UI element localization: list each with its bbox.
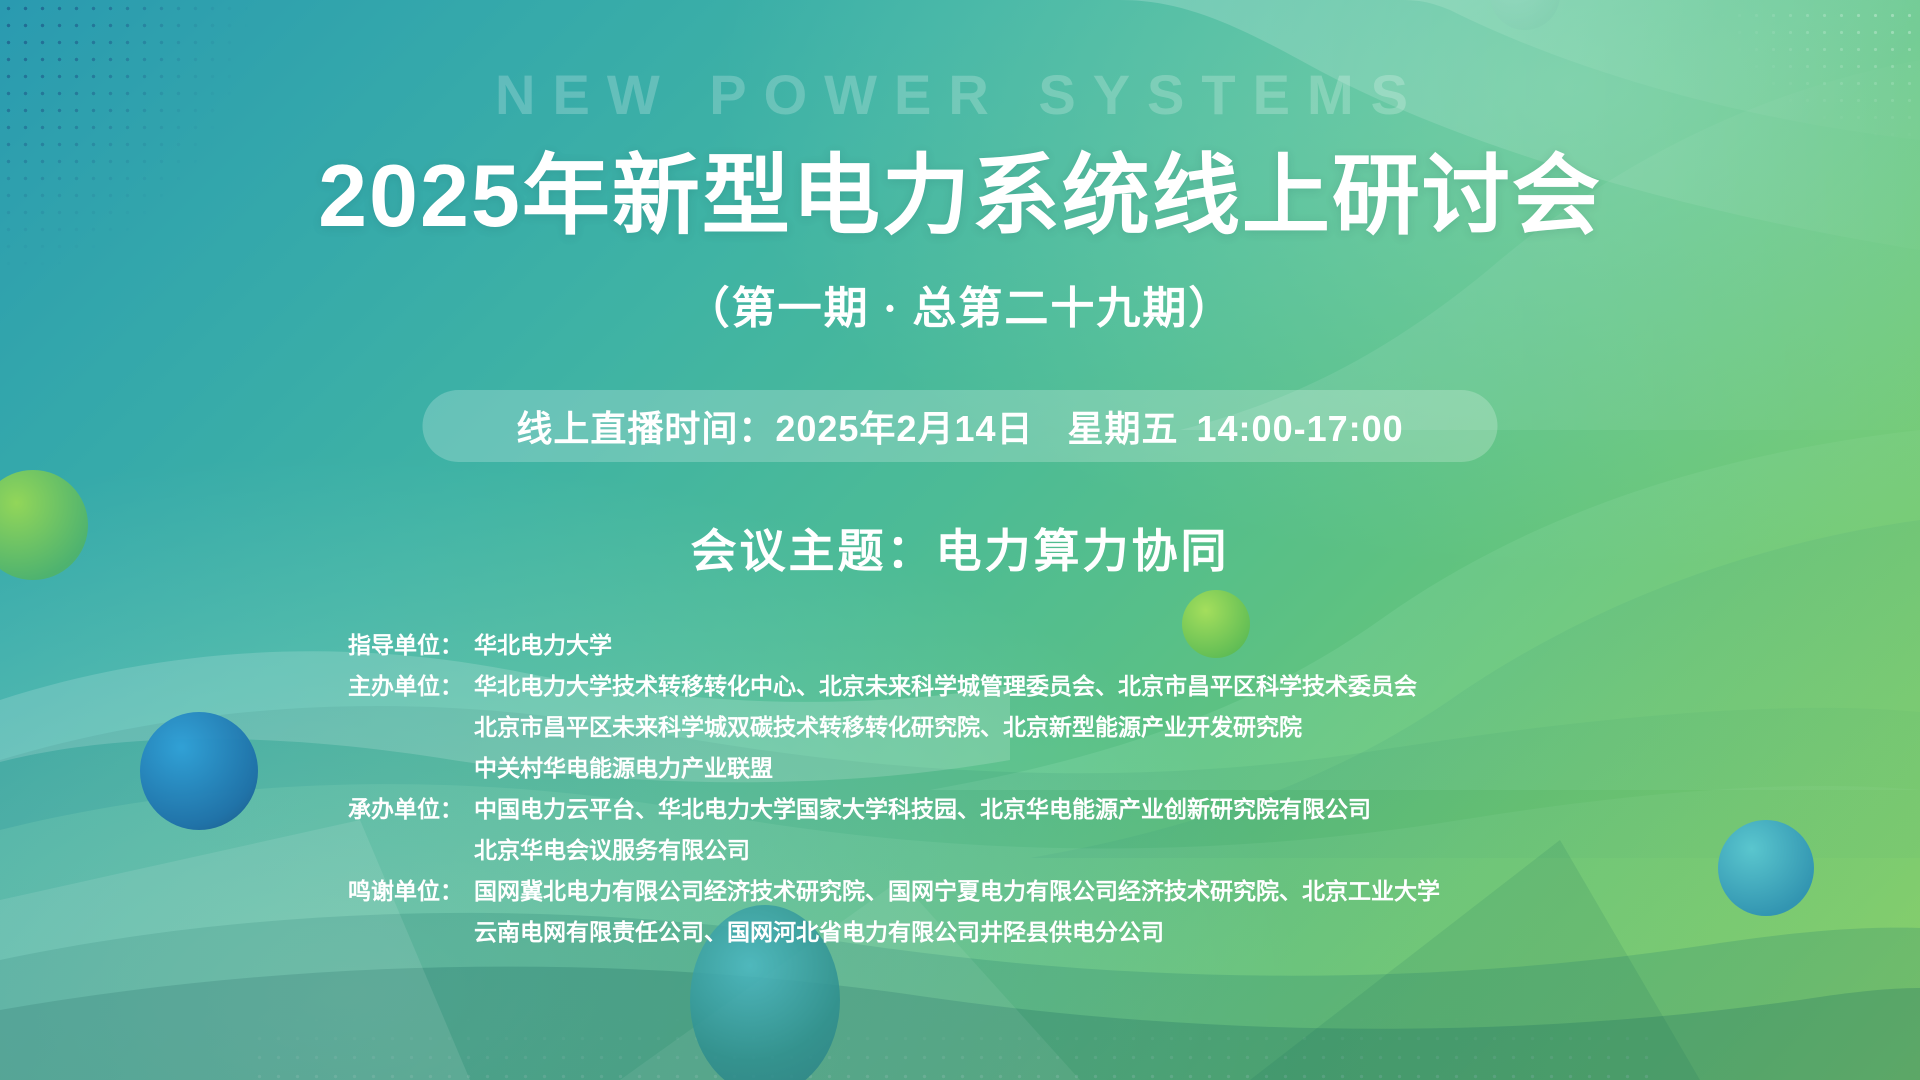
organizer-label: 主办单位： [348, 666, 474, 707]
live-time-range: 14:00-17:00 [1197, 408, 1404, 449]
organizer-row: 指导单位：华北电力大学 [348, 625, 1440, 666]
live-time-banner: 线上直播时间：2025年2月14日星期五14:00-17:00 [423, 390, 1498, 462]
organizer-value: 中关村华电能源电力产业联盟 [474, 755, 773, 781]
page-title: 2025年新型电力系统线上研讨会 [0, 125, 1920, 252]
subtitle-episode: （第一期 · 总第二十九期） [0, 272, 1920, 336]
organizer-value: 国网冀北电力有限公司经济技术研究院、国网宁夏电力有限公司经济技术研究院、北京工业… [474, 878, 1440, 904]
organizer-label: 承办单位： [348, 789, 474, 830]
meeting-theme: 会议主题：电力算力协同 [0, 515, 1920, 581]
organizer-value: 北京华电会议服务有限公司 [474, 837, 750, 863]
organizer-row-continuation: 北京市昌平区未来科学城双碳技术转移转化研究院、北京新型能源产业开发研究院 [348, 707, 1440, 748]
organizer-value: 华北电力大学技术转移转化中心、北京未来科学城管理委员会、北京市昌平区科学技术委员… [474, 673, 1417, 699]
live-time-weekday: 星期五 [1068, 408, 1179, 449]
organizer-label: 鸣谢单位： [348, 871, 474, 912]
live-time-date: 2025年2月14日 [775, 408, 1033, 449]
organizer-row: 鸣谢单位：国网冀北电力有限公司经济技术研究院、国网宁夏电力有限公司经济技术研究院… [348, 871, 1440, 912]
organizer-row: 承办单位：中国电力云平台、华北电力大学国家大学科技园、北京华电能源产业创新研究院… [348, 789, 1440, 830]
poster-canvas: NEW POWER SYSTEMS 2025年新型电力系统线上研讨会 （第一期 … [0, 0, 1920, 1080]
organizer-value: 北京市昌平区未来科学城双碳技术转移转化研究院、北京新型能源产业开发研究院 [474, 714, 1302, 740]
organizer-row-continuation: 北京华电会议服务有限公司 [348, 830, 1440, 871]
kicker-text: NEW POWER SYSTEMS [0, 62, 1920, 127]
organizer-value: 华北电力大学 [474, 632, 612, 658]
live-time-label: 线上直播时间： [516, 408, 775, 449]
organizer-list: 指导单位：华北电力大学 主办单位：华北电力大学技术转移转化中心、北京未来科学城管… [348, 625, 1440, 953]
organizer-value: 云南电网有限责任公司、国网河北省电力有限公司井陉县供电分公司 [474, 919, 1164, 945]
live-time-text: 线上直播时间：2025年2月14日星期五14:00-17:00 [516, 400, 1403, 452]
organizer-row-continuation: 云南电网有限责任公司、国网河北省电力有限公司井陉县供电分公司 [348, 912, 1440, 953]
organizer-row-continuation: 中关村华电能源电力产业联盟 [348, 748, 1440, 789]
organizer-value: 中国电力云平台、华北电力大学国家大学科技园、北京华电能源产业创新研究院有限公司 [474, 796, 1371, 822]
organizer-row: 主办单位：华北电力大学技术转移转化中心、北京未来科学城管理委员会、北京市昌平区科… [348, 666, 1440, 707]
organizer-label: 指导单位： [348, 625, 474, 666]
poster-content: NEW POWER SYSTEMS 2025年新型电力系统线上研讨会 （第一期 … [0, 0, 1920, 1080]
